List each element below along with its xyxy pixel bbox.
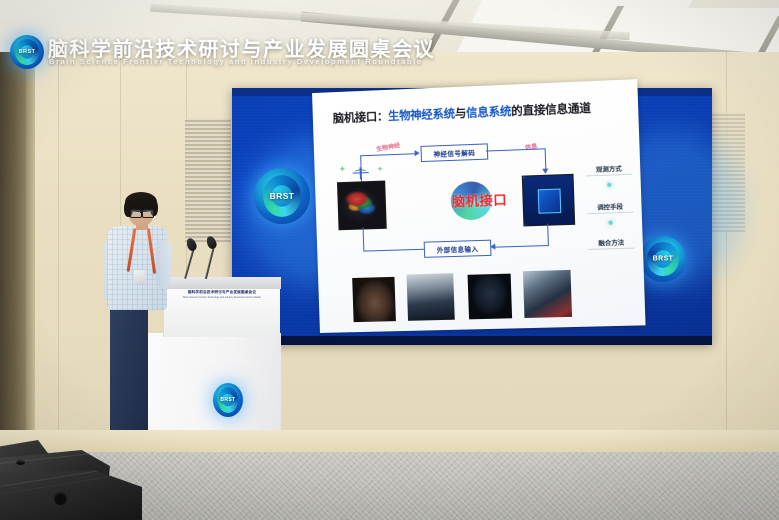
header-brst-logo: BRST [10,35,44,69]
node-external-input: 外部信息输入 [424,240,492,258]
eyeglasses-left-lens [130,209,142,218]
arrow-head-to-chip [542,169,548,174]
bci-center-text: 脑机接口 [442,189,516,211]
side-dot-2 [608,221,612,225]
podium-brst-logo: BRST [213,383,243,417]
bottom-photo-2 [406,273,454,321]
led-right-brst-logo: BRST [640,236,686,282]
side-sep-2 [587,212,633,215]
slide-title-middle: 与 [455,108,467,121]
led-left-brst-logo: BRST [254,168,310,224]
chip-circuit-image [522,174,575,227]
presentation-slide: 脑机接口：生物神经系统与信息系统的直接信息通道 生物神经 信息 ✦ ✦ 神经信号… [312,79,646,333]
arrow-input-to-brain-v [363,227,365,251]
led-bottom-edge [232,336,712,345]
conference-photo-scene: BRST BRST 脑机接口：生物神经系统与信息系统的直接信息通道 生物神经 信… [0,0,779,520]
side-sep-1 [586,174,632,177]
podium-logo-text: BRST [213,397,243,403]
arrow-chip-to-input-h [495,245,549,248]
led-left-logo-text: BRST [254,191,310,201]
side-label-fusion: 融合方法 [588,237,634,248]
event-subtitle: Brain Science Frontier Technology and In… [49,57,422,66]
lanyard-badge [134,270,145,284]
slide-title-suffix: 的直接信息通道 [511,103,591,118]
bci-center-label: 脑机接口 [442,182,517,219]
node-neural-decoding: 神经信号解码 [420,143,488,162]
header-logo-text: BRST [10,49,44,55]
decor-spark-right: ✦ [377,164,384,173]
arrow-head-to-decoder [415,150,420,156]
microphone-right [196,228,236,280]
arrow-input-to-brain-h [363,249,424,252]
arrow-brain-to-decoder-h [360,153,417,156]
slide-title-highlight-1: 生物神经系统 [388,108,455,123]
slide-title-prefix: 脑机接口： [333,111,389,125]
side-label-observation: 观测方式 [586,163,632,174]
eyeglasses-right-lens [142,209,154,218]
led-right-logo-text: BRST [640,256,686,263]
speaker-legs [110,305,148,450]
side-label-regulation: 调控手段 [587,201,633,212]
decor-spark-left: ✦ [338,164,346,175]
podium-subtitle-text: Brain Science Frontier Technology and In… [170,296,274,299]
side-dot-1 [607,183,611,187]
bottom-photo-4 [523,270,572,318]
stage-base-panel [0,430,779,454]
brain-model-image [337,181,387,231]
eyeglasses-bridge [140,212,142,213]
arrow-decoder-to-chip-v [545,148,547,170]
bottom-photo-1 [352,277,396,322]
side-sep-3 [589,248,635,250]
node-external-input-label: 外部信息输入 [437,244,479,254]
event-title-overlay: BRST 脑科学前沿技术研讨与产业发展圆桌会议 Brain Science Fr… [0,16,779,58]
podium-title-text: 脑科学前沿技术研讨与产业发展圆桌会议 [170,290,274,295]
slide-title: 脑机接口：生物神经系统与信息系统的直接信息通道 [333,98,630,126]
wall-left-dark-strip [0,52,26,452]
node-neural-decoding-label: 神经信号解码 [433,147,475,158]
wall-left-light-strip [26,52,35,452]
annotation-1: 生物神经 [375,140,400,153]
bottom-photo-3 [468,274,513,320]
arrow-chip-to-input-v [547,224,549,245]
arrow-head-to-input [490,244,495,250]
slide-title-highlight-2: 信息系统 [466,106,511,120]
annotation-2: 信息 [524,141,538,152]
speaker-right-arm [156,240,171,288]
